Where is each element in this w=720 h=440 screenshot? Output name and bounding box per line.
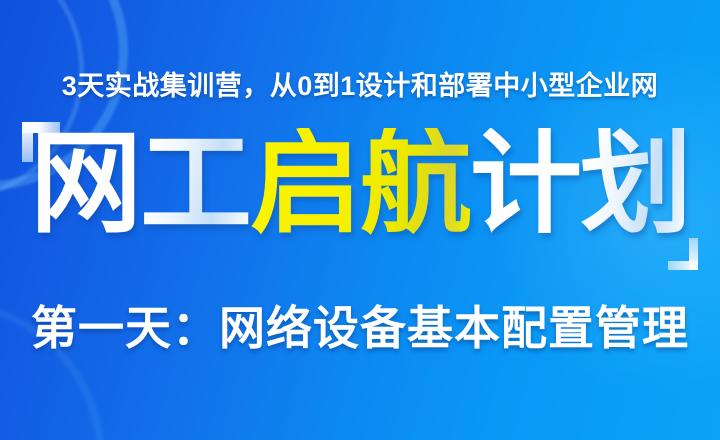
title-segment-1: 网工 <box>30 128 250 240</box>
banner-day-headline: 第一天：网络设备基本配置管理 <box>0 292 720 358</box>
course-promo-banner: 3天实战集训营，从0到1设计和部署中小型企业网 网工 启航 计划 第一天：网络设… <box>0 0 720 440</box>
banner-title-text: 网工 启航 计划 <box>30 128 690 240</box>
title-segment-2-accent: 启航 <box>250 128 470 240</box>
title-segment-3: 计划 <box>470 128 690 240</box>
banner-title: 网工 启航 计划 <box>0 122 720 246</box>
banner-subtitle: 3天实战集训营，从0到1设计和部署中小型企业网 <box>0 64 720 103</box>
